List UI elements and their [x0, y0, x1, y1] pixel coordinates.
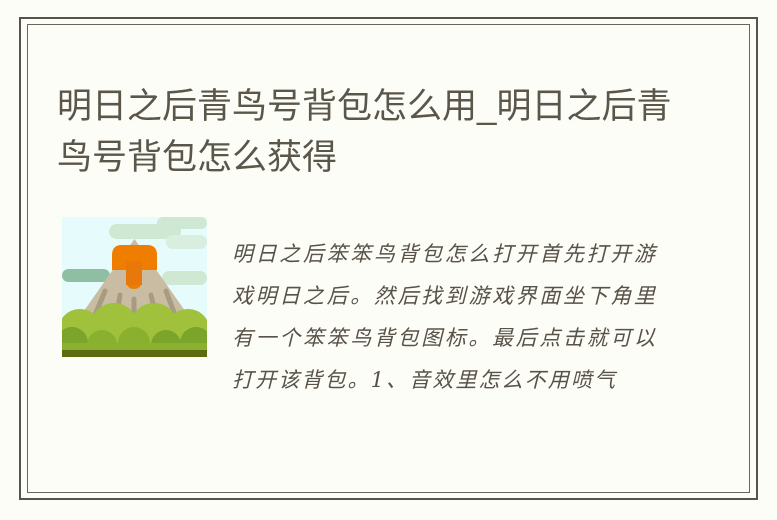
volcano-icon	[62, 217, 207, 357]
article-title[interactable]: 明日之后青鸟号背包怎么用_明日之后青鸟号背包怎么获得	[57, 81, 697, 183]
article-excerpt: 明日之后笨笨鸟背包怎么打开首先打开游戏明日之后。然后找到游戏界面坐下角里有一个笨…	[232, 233, 657, 401]
page-root: 明日之后青鸟号背包怎么用_明日之后青鸟号背包怎么获得	[0, 0, 777, 520]
article-thumbnail[interactable]	[62, 217, 207, 357]
